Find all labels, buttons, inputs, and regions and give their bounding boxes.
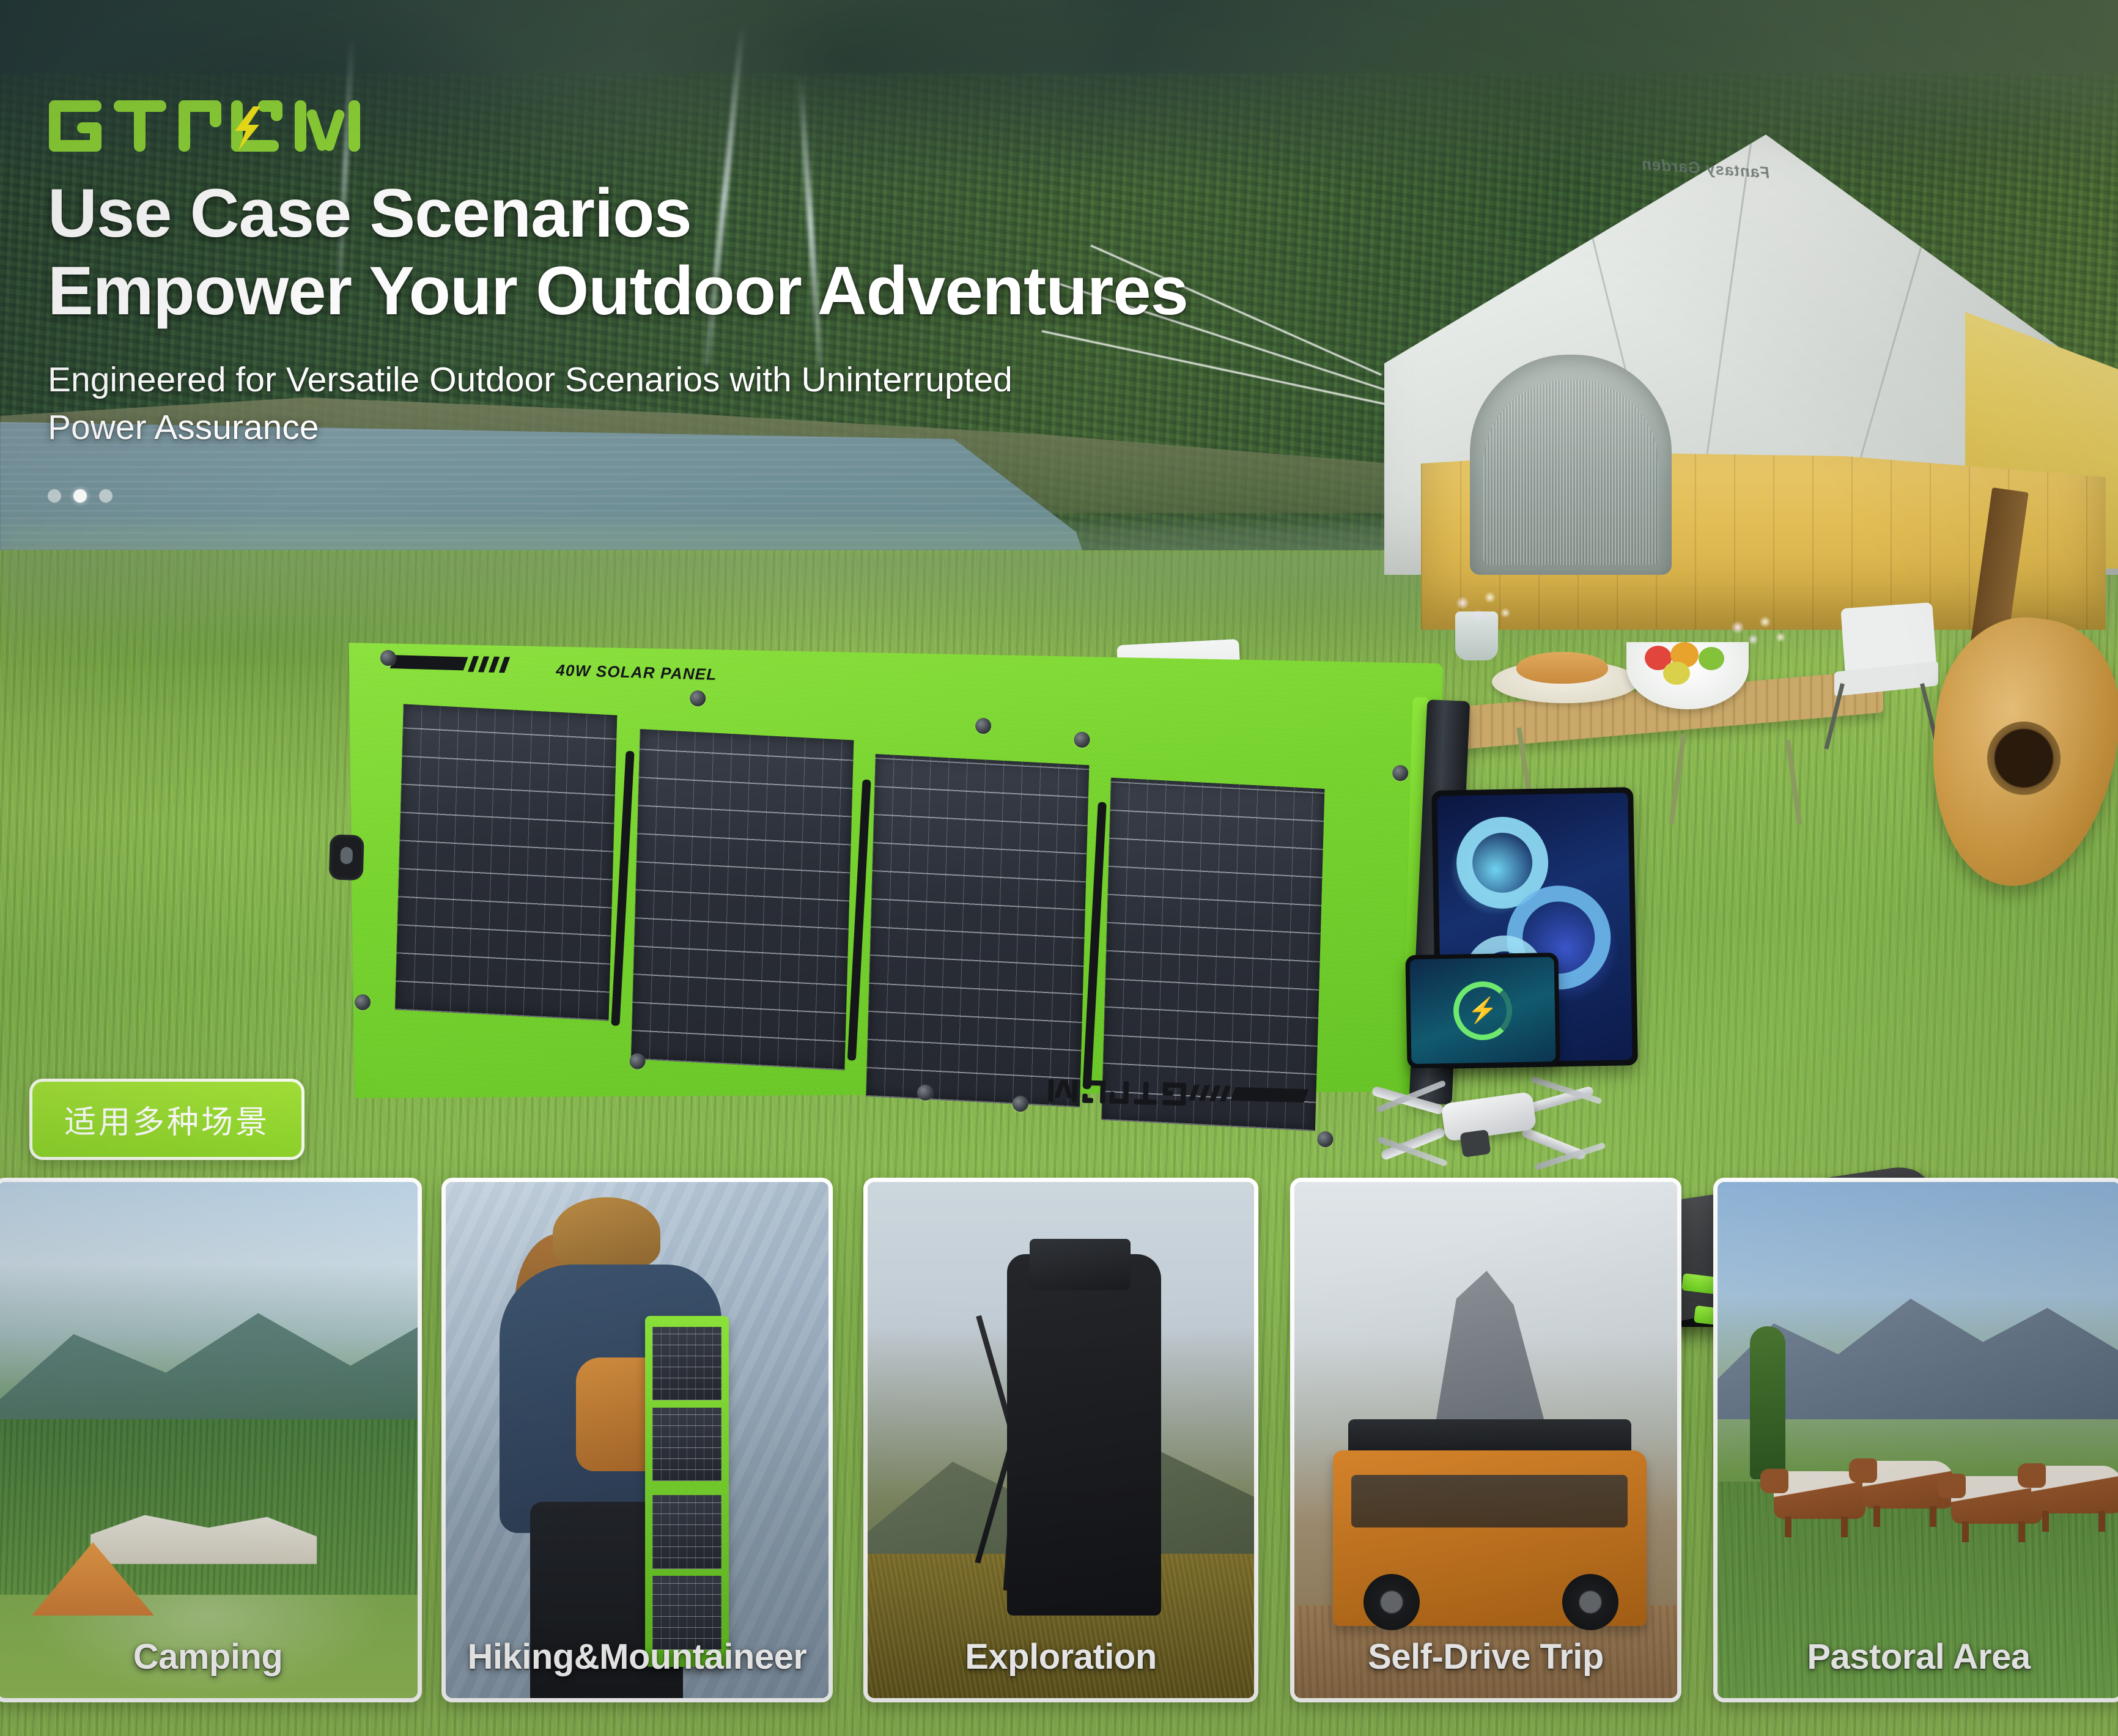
table-leg xyxy=(1785,739,1802,825)
flower-bouquet xyxy=(1437,581,1522,636)
carried-solar-panel xyxy=(645,1316,729,1667)
card-photo-self-drive xyxy=(1294,1182,1677,1698)
scenario-card-hiking[interactable]: Hiking&Mountaineer xyxy=(441,1178,833,1702)
card-photo-exploration xyxy=(868,1182,1254,1698)
panel-cell xyxy=(652,1495,721,1569)
scenario-card-camping[interactable]: Camping xyxy=(0,1178,422,1702)
lightning-bolt-icon: ⚡ xyxy=(1467,998,1499,1023)
panel-bar xyxy=(468,656,479,672)
van-wheel xyxy=(1363,1574,1420,1630)
scenario-card-exploration[interactable]: Exploration xyxy=(863,1178,1258,1702)
panel-brand-mark xyxy=(1046,1073,1187,1108)
panel-accent-bars-bottom xyxy=(1191,1085,1307,1104)
carousel-dot-3[interactable] xyxy=(99,489,113,503)
panel-bar-long xyxy=(1231,1087,1309,1103)
panel-bar xyxy=(1220,1085,1231,1101)
hiker-beanie xyxy=(553,1197,660,1269)
cow-leg xyxy=(2042,1511,2049,1532)
cow-leg xyxy=(1930,1506,1936,1527)
panel-cell-1 xyxy=(395,704,618,1021)
panel-accent-bars-top xyxy=(392,654,507,673)
smartphone-device: ⚡ xyxy=(1405,953,1560,1068)
scenario-card-self-drive[interactable]: Self-Drive Trip xyxy=(1290,1178,1681,1702)
headline-line-1: Use Case Scenarios xyxy=(48,175,692,251)
panel-bar-long xyxy=(390,655,468,670)
subhead-line-1: Engineered for Versatile Outdoor Scenari… xyxy=(48,360,1013,399)
scenario-badge: 适用多种场景 xyxy=(29,1079,304,1160)
brand-logo[interactable] xyxy=(48,98,1393,154)
cow xyxy=(2031,1466,2118,1513)
solar-panel-product: 40W SOLAR PANEL xyxy=(336,633,1444,1128)
cow-leg xyxy=(1873,1506,1880,1527)
panel-cell-2 xyxy=(631,729,854,1070)
card-label-camping: Camping xyxy=(0,1636,418,1677)
cow-leg xyxy=(1841,1516,1848,1537)
card-label-hiking: Hiking&Mountaineer xyxy=(446,1636,828,1677)
page-subtitle: Engineered for Versatile Outdoor Scenari… xyxy=(48,356,1222,451)
cow-leg xyxy=(1962,1521,1969,1542)
scenario-card-pastoral[interactable]: Pastoral Area xyxy=(1713,1178,2118,1702)
bread xyxy=(1516,652,1608,684)
panel-bar xyxy=(478,656,489,672)
card-label-pastoral: Pastoral Area xyxy=(1718,1636,2118,1677)
card-label-exploration: Exploration xyxy=(868,1636,1254,1677)
cow-leg xyxy=(1785,1516,1791,1537)
cow-leg xyxy=(2018,1521,2025,1542)
card-label-self-drive: Self-Drive Trip xyxy=(1294,1636,1677,1677)
panel-bar xyxy=(1209,1085,1220,1101)
panel-cell xyxy=(652,1408,721,1482)
carousel-dot-1[interactable] xyxy=(48,489,61,503)
camping-photo xyxy=(0,1182,418,1698)
photographer xyxy=(1007,1254,1162,1616)
poplar-tree xyxy=(1750,1326,1785,1479)
card-photo-hiking xyxy=(446,1182,828,1698)
tent-door xyxy=(1470,355,1672,575)
card-photo-pastoral xyxy=(1718,1182,2118,1698)
drone-camera xyxy=(1459,1129,1491,1158)
panel-hang-loop xyxy=(329,834,364,881)
promo-banner: Fantasy Garden xyxy=(0,0,2118,1736)
card-photo-camping xyxy=(0,1182,418,1698)
phone-screen: ⚡ xyxy=(1410,957,1556,1064)
flower-bouquet xyxy=(1712,605,1798,660)
table-leg xyxy=(1669,733,1686,825)
headline-line-2: Empower Your Outdoor Adventures xyxy=(48,253,1393,330)
camera xyxy=(1030,1239,1130,1290)
carousel-dots[interactable] xyxy=(48,489,1393,503)
panel-grommet xyxy=(1013,1096,1029,1112)
scenario-card-row: Camping Hiking&Mountaineer xyxy=(0,1178,2118,1704)
camp-chair xyxy=(1822,611,1944,764)
van-wheel xyxy=(1562,1574,1618,1630)
panel-cell xyxy=(652,1327,721,1401)
panel-bar xyxy=(1199,1085,1210,1101)
carousel-dot-2[interactable] xyxy=(73,489,87,503)
page-title: Use Case Scenarios Empower Your Outdoor … xyxy=(48,175,1393,330)
fruit xyxy=(1663,662,1690,685)
banner-header: Use Case Scenarios Empower Your Outdoor … xyxy=(48,98,1393,503)
panel-bar xyxy=(489,657,500,673)
panel-cell-3 xyxy=(866,754,1089,1107)
subhead-line-2: Power Assurance xyxy=(48,404,1222,452)
cow-leg xyxy=(2098,1511,2105,1532)
